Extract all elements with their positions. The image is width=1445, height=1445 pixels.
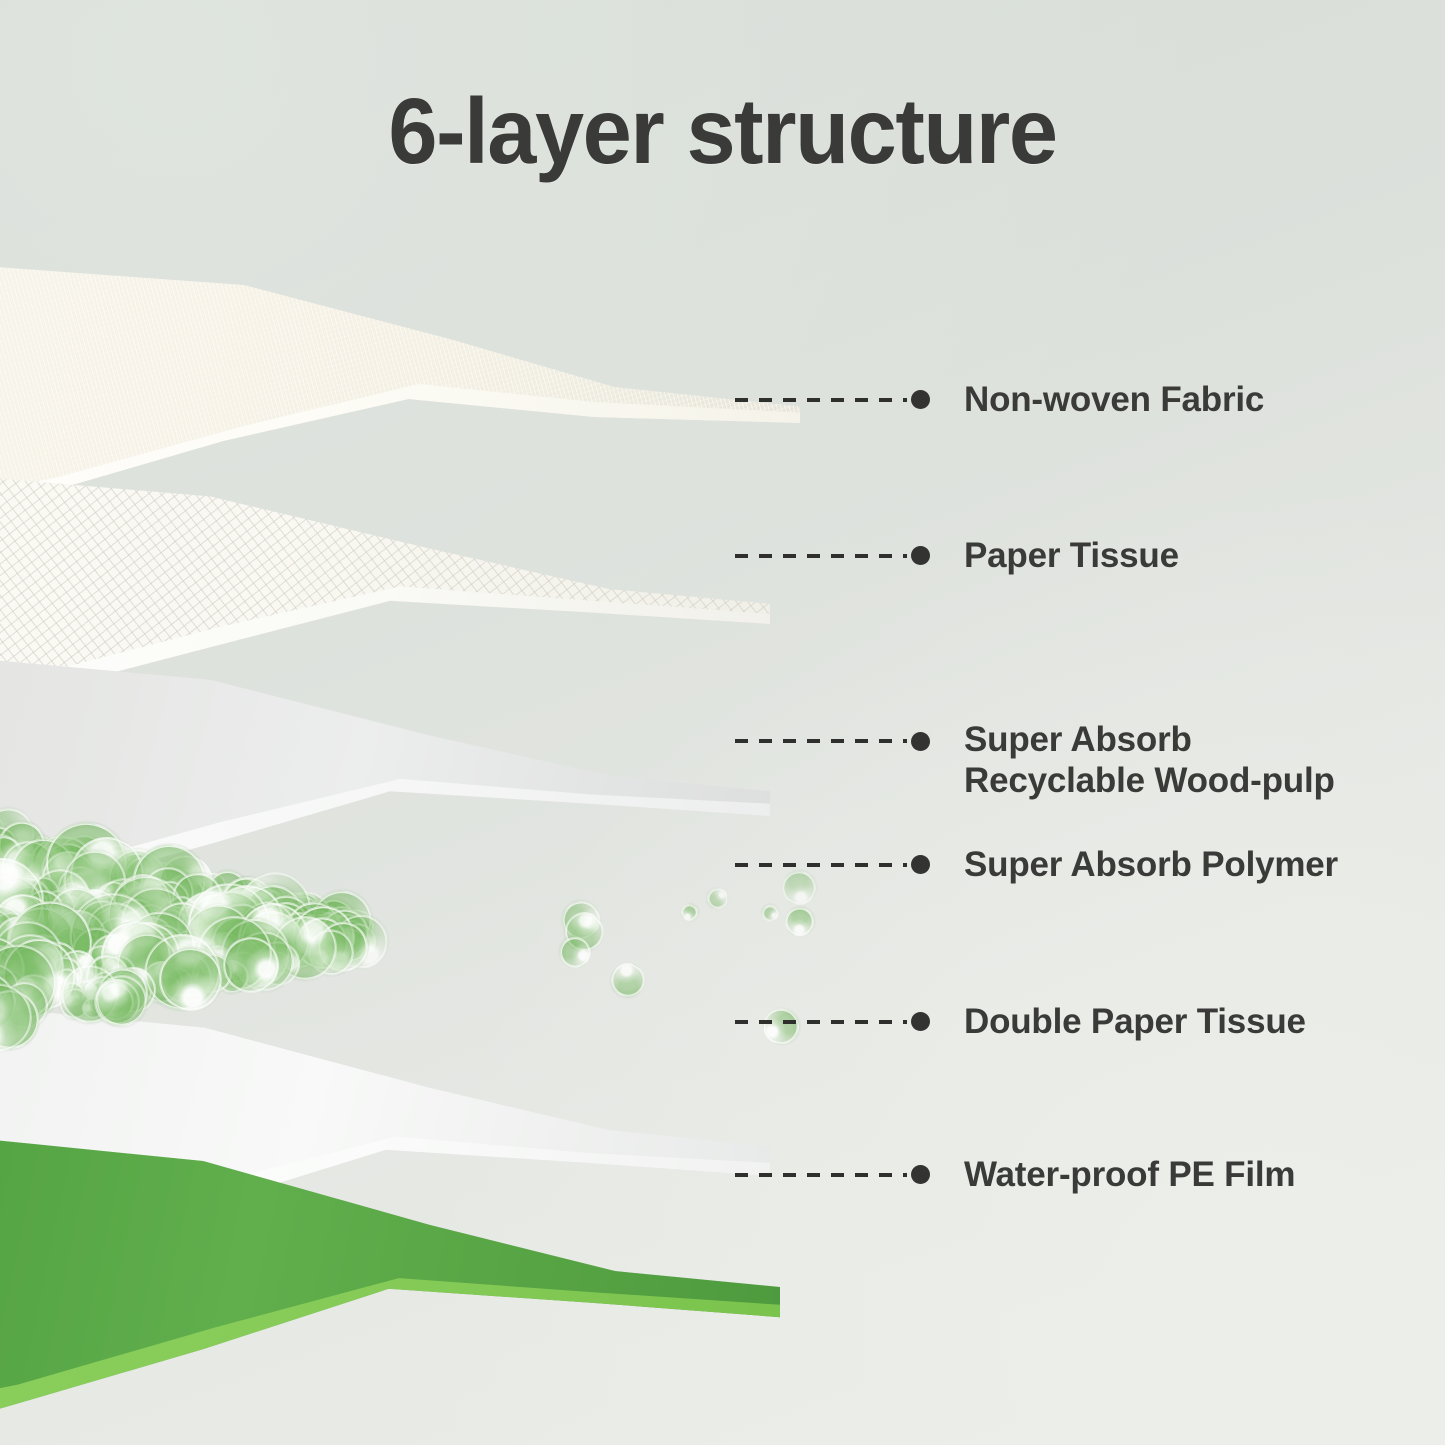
callout-label: Water-proof PE Film <box>964 1154 1295 1195</box>
polymer-bead <box>779 902 820 943</box>
callout-label: Double Paper Tissue <box>964 1001 1306 1042</box>
layer-surface <box>0 1090 780 1445</box>
callout-wood-pulp: Super Absorb Recyclable Wood-pulp <box>735 681 1335 802</box>
leader-line-dashed-icon <box>735 554 907 558</box>
page-title: 6-layer structure <box>36 78 1409 185</box>
callout-super-absorb-polymer: Super Absorb Polymer <box>735 844 1338 885</box>
bullet-dot-icon <box>911 1012 930 1031</box>
callout-label: Paper Tissue <box>964 535 1179 576</box>
callout-label: Non-woven Fabric <box>964 379 1264 420</box>
leader-line-dashed-icon <box>735 1020 907 1024</box>
callout-label: Super Absorb Recyclable Wood-pulp <box>964 719 1335 802</box>
callout-non-woven-fabric: Non-woven Fabric <box>735 379 1264 420</box>
bullet-dot-icon <box>911 855 930 874</box>
callout-label: Super Absorb Polymer <box>964 844 1338 885</box>
bullet-dot-icon <box>911 732 930 751</box>
callout-paper-tissue: Paper Tissue <box>735 535 1179 576</box>
leader-line-dashed-icon <box>735 739 907 743</box>
layer-stack-artwork <box>0 255 830 1445</box>
polymer-bead <box>678 901 701 924</box>
leader-line-dashed-icon <box>735 398 907 402</box>
bullet-dot-icon <box>911 546 930 565</box>
polymer-bead <box>706 887 729 910</box>
bullet-dot-icon <box>911 1165 930 1184</box>
polymer-bead <box>605 957 651 1003</box>
polymer-bead <box>759 902 781 924</box>
callout-water-proof-pe-film: Water-proof PE Film <box>735 1154 1295 1195</box>
leader-line-dashed-icon <box>735 863 907 867</box>
leader-line-dashed-icon <box>735 1173 907 1177</box>
layer-graphic-pe-film <box>0 1090 780 1445</box>
diagram-canvas: 6-layer structure Non-woven Fabric <box>0 0 1445 1445</box>
bullet-dot-icon <box>911 390 930 409</box>
callout-double-paper-tissue: Double Paper Tissue <box>735 1001 1306 1042</box>
